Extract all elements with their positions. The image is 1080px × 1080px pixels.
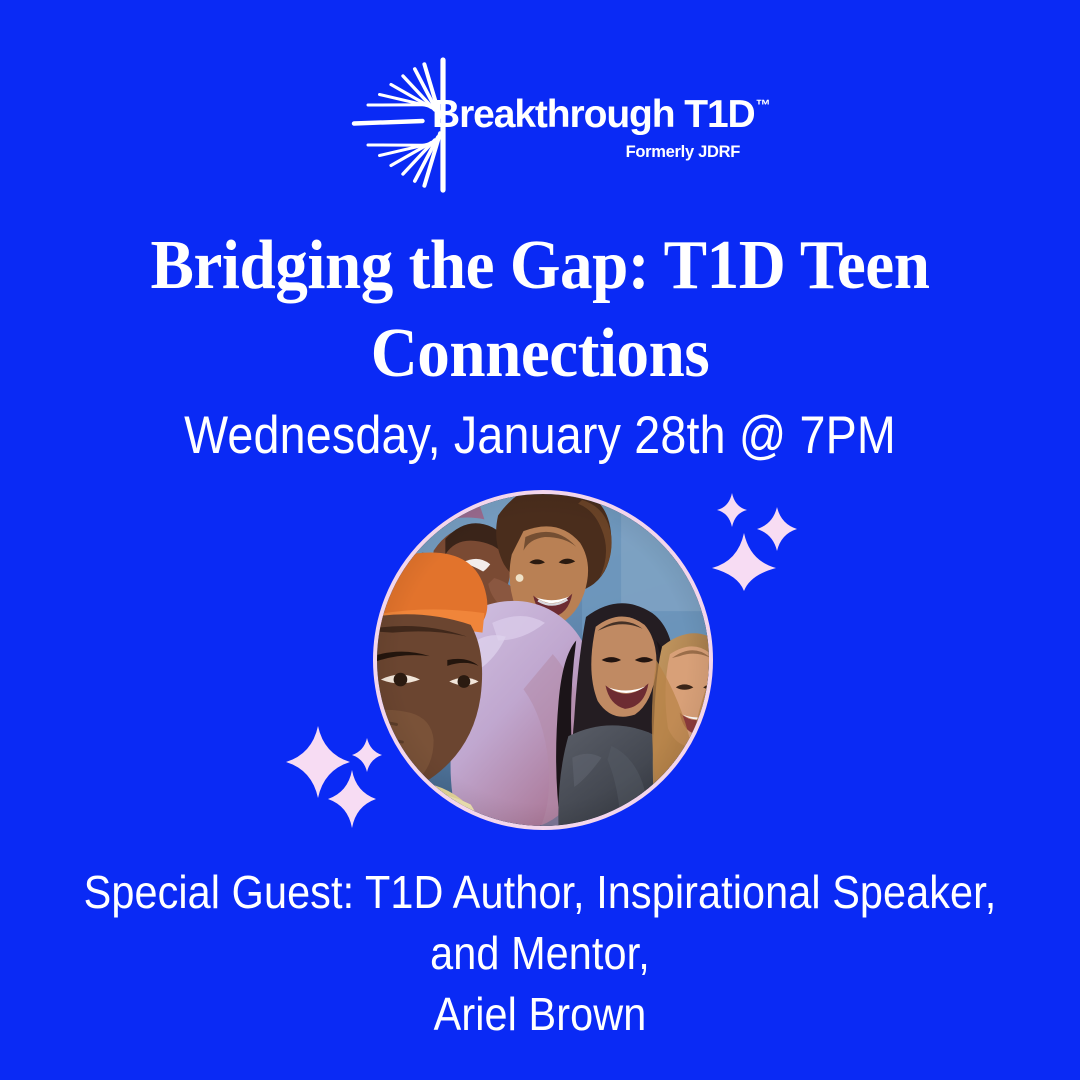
guest-line-1: Special Guest: T1D Author, Inspirational…: [72, 862, 1008, 923]
logo-tagline: Formerly JDRF: [432, 143, 742, 162]
sparkle-icon: [712, 533, 776, 591]
trademark-symbol: ™: [756, 97, 771, 114]
title-line-1: Bridging the Gap: T1D Teen: [151, 227, 930, 304]
group-photo: [377, 494, 709, 826]
sparkle-icon: [757, 507, 797, 551]
wordmark-label: Breakthrough T1D: [432, 93, 755, 136]
sparkle-icon: [352, 738, 382, 772]
event-datetime: Wednesday, January 28th @ 7PM: [118, 406, 963, 467]
sparkle-cluster-right: [700, 487, 815, 597]
sparkle-icon: [717, 493, 747, 527]
title-line-2: Connections: [371, 315, 710, 392]
event-flyer: Breakthrough T1D™ Formerly JDRF Bridging…: [0, 0, 1080, 1080]
special-guest-block: Special Guest: T1D Author, Inspirational…: [72, 862, 1008, 1046]
sparkle-icon: [286, 726, 350, 798]
page-title: Bridging the Gap: T1D Teen Connections: [94, 222, 987, 398]
sparkle-icon: [328, 770, 376, 828]
guest-line-2: and Mentor,: [72, 923, 1008, 984]
photo-circle-frame: [373, 490, 713, 830]
wordmark-text: Breakthrough T1D™: [432, 95, 742, 134]
sparkle-cluster-left: [288, 718, 408, 833]
brand-logo: Breakthrough T1D™ Formerly JDRF: [0, 55, 1080, 195]
guest-line-3: Ariel Brown: [72, 984, 1008, 1045]
wordmark-block: Breakthrough T1D™ Formerly JDRF: [432, 95, 742, 162]
